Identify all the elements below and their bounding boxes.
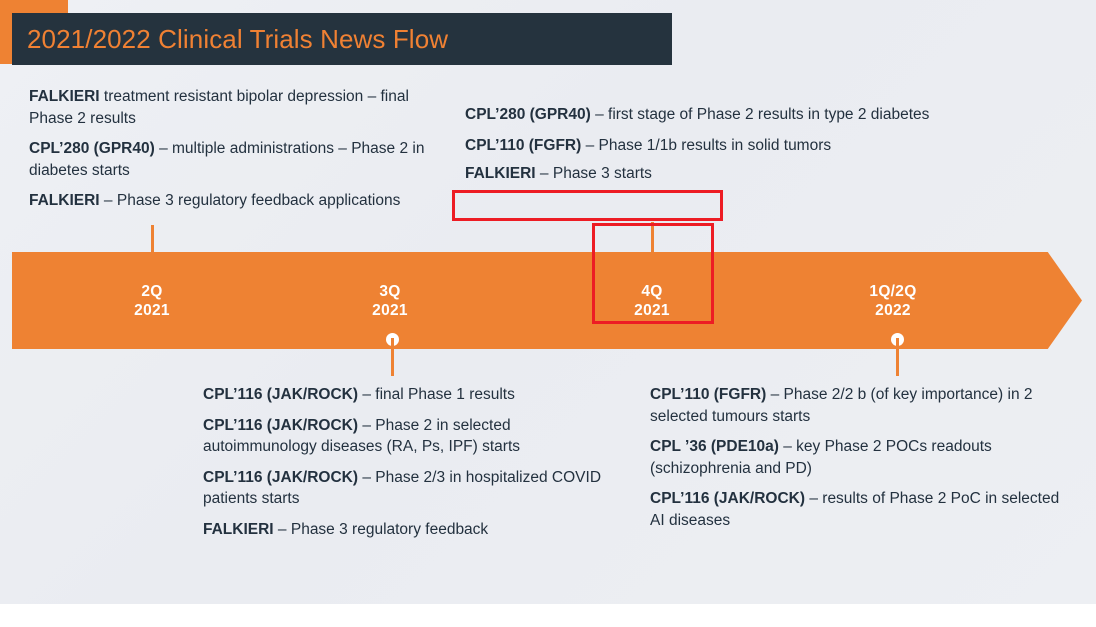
event-drug: CPL’110 (FGFR) <box>650 386 766 403</box>
event-text: – Phase 1/1b results in solid tumors <box>581 137 831 154</box>
event-drug: CPL ’36 (PDE10a) <box>650 438 779 455</box>
tick-quarter: 4Q <box>641 283 662 300</box>
event-text: – final Phase 1 results <box>358 386 515 403</box>
event-drug: CPL’280 (GPR40) <box>29 140 155 157</box>
event-drug: CPL’116 (JAK/ROCK) <box>650 490 805 507</box>
tick-label-3q-2021: 3Q 2021 <box>320 282 460 320</box>
event-drug: FALKIERI <box>29 192 100 209</box>
connector-line-3q <box>391 338 394 376</box>
event-item: FALKIERI – Phase 3 regulatory feedback <box>203 519 628 541</box>
event-item: CPL’116 (JAK/ROCK) – results of Phase 2 … <box>650 488 1062 531</box>
events-below-3q-2021: CPL’116 (JAK/ROCK) – final Phase 1 resul… <box>203 384 628 540</box>
tick-year: 2021 <box>134 302 170 319</box>
tick-label-2q-2021: 2Q 2021 <box>82 282 222 320</box>
event-item: CPL’110 (FGFR) – Phase 1/1b results in s… <box>465 135 935 157</box>
tick-year: 2021 <box>634 302 670 319</box>
event-item: FALKIERI treatment resistant bipolar dep… <box>29 86 429 129</box>
event-text: – Phase 3 starts <box>536 165 652 182</box>
event-item: CPL’280 (GPR40) – first stage of Phase 2… <box>465 104 935 126</box>
event-drug: CPL’116 (JAK/ROCK) <box>203 386 358 403</box>
tick-quarter: 1Q/2Q <box>869 283 916 300</box>
events-above-4q-2021: CPL’280 (GPR40) – first stage of Phase 2… <box>465 104 935 185</box>
tick-quarter: 3Q <box>379 283 400 300</box>
tick-quarter: 2Q <box>141 283 162 300</box>
page-title: 2021/2022 Clinical Trials News Flow <box>12 24 448 55</box>
connector-line-1q2q <box>896 338 899 376</box>
event-drug: CPL’116 (JAK/ROCK) <box>203 417 358 434</box>
event-item-highlighted: FALKIERI – Phase 3 starts <box>465 163 935 185</box>
tick-year: 2022 <box>875 302 911 319</box>
event-drug: FALKIERI <box>203 521 274 538</box>
tick-year: 2021 <box>372 302 408 319</box>
event-drug: CPL’280 (GPR40) <box>465 106 591 123</box>
event-drug: CPL’116 (JAK/ROCK) <box>203 469 358 486</box>
event-text: – first stage of Phase 2 results in type… <box>591 106 930 123</box>
event-drug: FALKIERI <box>465 165 536 182</box>
slide-canvas: 2021/2022 Clinical Trials News Flow FALK… <box>0 0 1096 627</box>
event-item: FALKIERI – Phase 3 regulatory feedback a… <box>29 190 429 212</box>
event-text: – Phase 3 regulatory feedback applicatio… <box>100 192 401 209</box>
event-text: – Phase 3 regulatory feedback <box>274 521 489 538</box>
tick-label-1q2q-2022: 1Q/2Q 2022 <box>823 282 963 320</box>
event-item: CPL’116 (JAK/ROCK) – Phase 2/3 in hospit… <box>203 467 628 510</box>
event-item: CPL’116 (JAK/ROCK) – final Phase 1 resul… <box>203 384 628 406</box>
event-item: CPL’116 (JAK/ROCK) – Phase 2 in selected… <box>203 415 628 458</box>
event-drug: CPL’110 (FGFR) <box>465 137 581 154</box>
tick-label-4q-2021: 4Q 2021 <box>582 282 722 320</box>
event-item: CPL’110 (FGFR) – Phase 2/2 b (of key imp… <box>650 384 1062 427</box>
event-item: CPL ’36 (PDE10a) – key Phase 2 POCs read… <box>650 436 1062 479</box>
events-below-1q2q-2022: CPL’110 (FGFR) – Phase 2/2 b (of key imp… <box>650 384 1062 531</box>
events-above-2q-2021: FALKIERI treatment resistant bipolar dep… <box>29 86 429 212</box>
event-drug: FALKIERI <box>29 88 100 105</box>
event-item: CPL’280 (GPR40) – multiple administratio… <box>29 138 429 181</box>
title-bar: 2021/2022 Clinical Trials News Flow <box>12 13 672 65</box>
